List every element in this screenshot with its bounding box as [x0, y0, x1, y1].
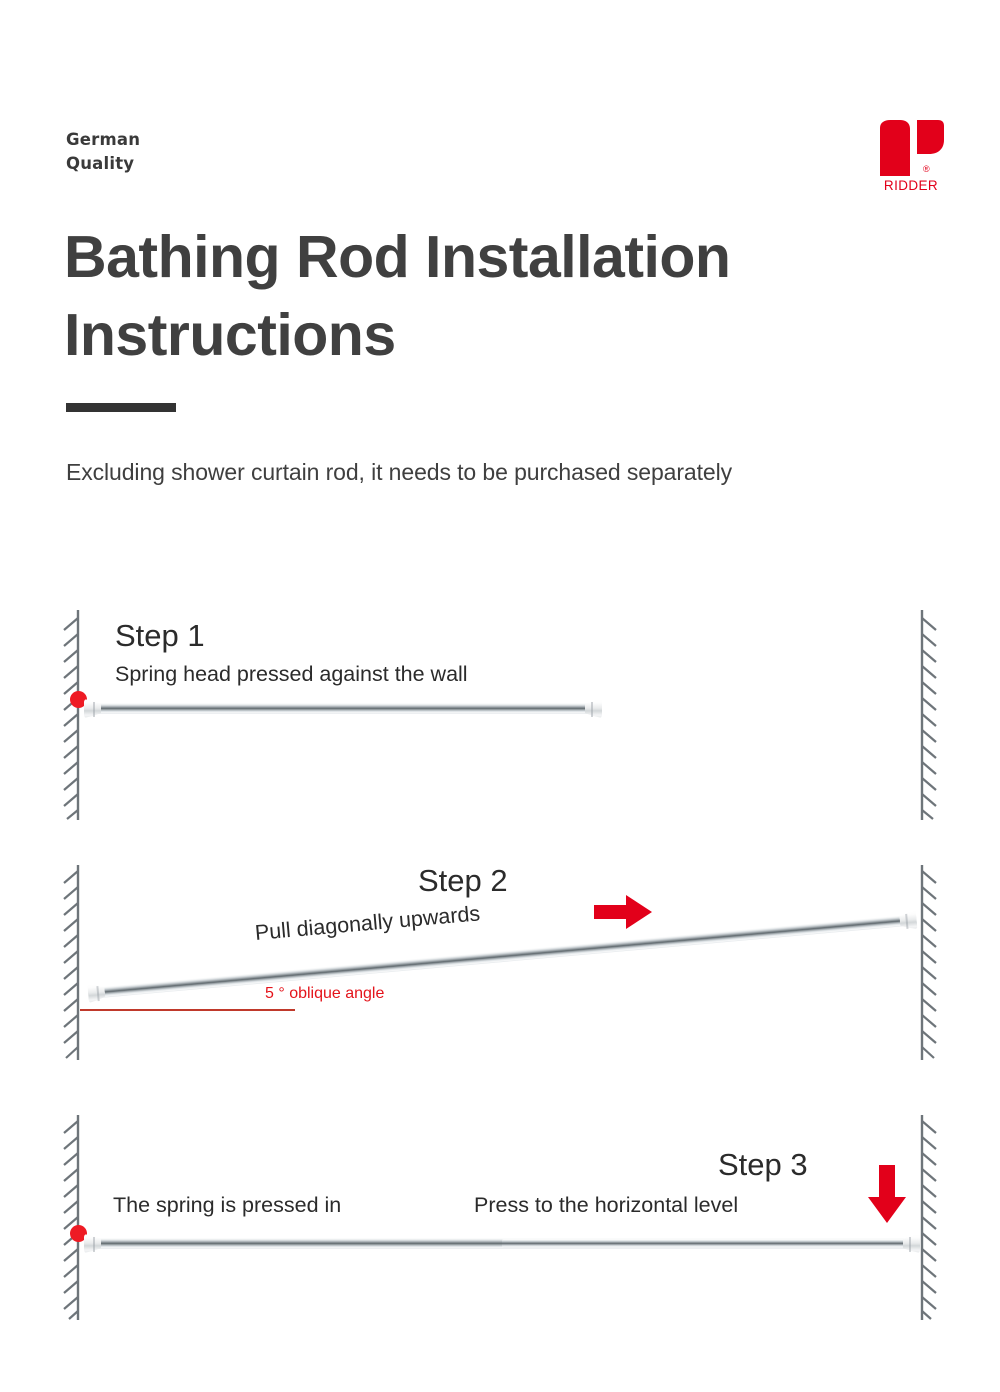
step-3-title: Step 3	[718, 1147, 808, 1183]
step-panel-2: Step 2 Pull diagonally upwards 5 ° obliq…	[0, 865, 1000, 1060]
german-quality-tagline: German Quality	[66, 128, 140, 176]
step-1-title: Step 1	[115, 618, 205, 654]
title-divider	[66, 403, 176, 412]
step-panel-1: Step 1 Spring head pressed against the w…	[0, 610, 1000, 820]
registered-trademark-icon: ®	[923, 164, 930, 174]
rod-inner-tube-3	[502, 1239, 908, 1248]
rod-cap-ring-right-1	[591, 702, 593, 717]
step-2-caption: Pull diagonally upwards	[254, 901, 481, 946]
rod-tube-2	[99, 915, 905, 998]
step-1-caption: Spring head pressed against the wall	[115, 662, 468, 687]
ridder-logo-mark	[876, 120, 946, 176]
wall-left-3	[60, 1115, 94, 1320]
ridder-logo: ® RIDDER	[876, 120, 946, 200]
rod-cap-ring-left-3	[93, 1237, 95, 1252]
curtain-rod-3	[84, 1235, 920, 1252]
ridder-wordmark: RIDDER	[876, 178, 946, 193]
wall-right-2	[906, 865, 940, 1060]
page-title: Bathing Rod Installation Instructions	[64, 218, 904, 374]
step-2-title: Step 2	[418, 863, 508, 899]
wall-right-1	[906, 610, 940, 820]
arrow-right-icon	[592, 893, 654, 931]
rod-tube-1	[96, 703, 590, 714]
step-3-caption-left: The spring is pressed in	[113, 1193, 341, 1218]
step-3-caption-right: Press to the horizontal level	[474, 1193, 738, 1218]
arrow-down-icon	[866, 1163, 908, 1225]
rod-cap-ring-left-1	[93, 702, 95, 717]
rod-cap-ring-right-3	[909, 1237, 911, 1252]
rod-cap-right-1	[585, 699, 602, 718]
curtain-rod-2	[87, 911, 917, 1002]
step-panel-3: Step 3 The spring is pressed in Press to…	[0, 1115, 1000, 1320]
wall-left-2	[60, 865, 94, 1060]
rod-cap-right-3	[903, 1234, 920, 1253]
page-subtitle: Excluding shower curtain rod, it needs t…	[66, 459, 732, 486]
curtain-rod-1	[84, 700, 602, 717]
angle-reference-line	[80, 1009, 295, 1011]
page-header: German Quality ® RIDDER	[0, 0, 1000, 210]
angle-label: 5 ° oblique angle	[265, 985, 384, 1003]
wall-right-3	[906, 1115, 940, 1320]
